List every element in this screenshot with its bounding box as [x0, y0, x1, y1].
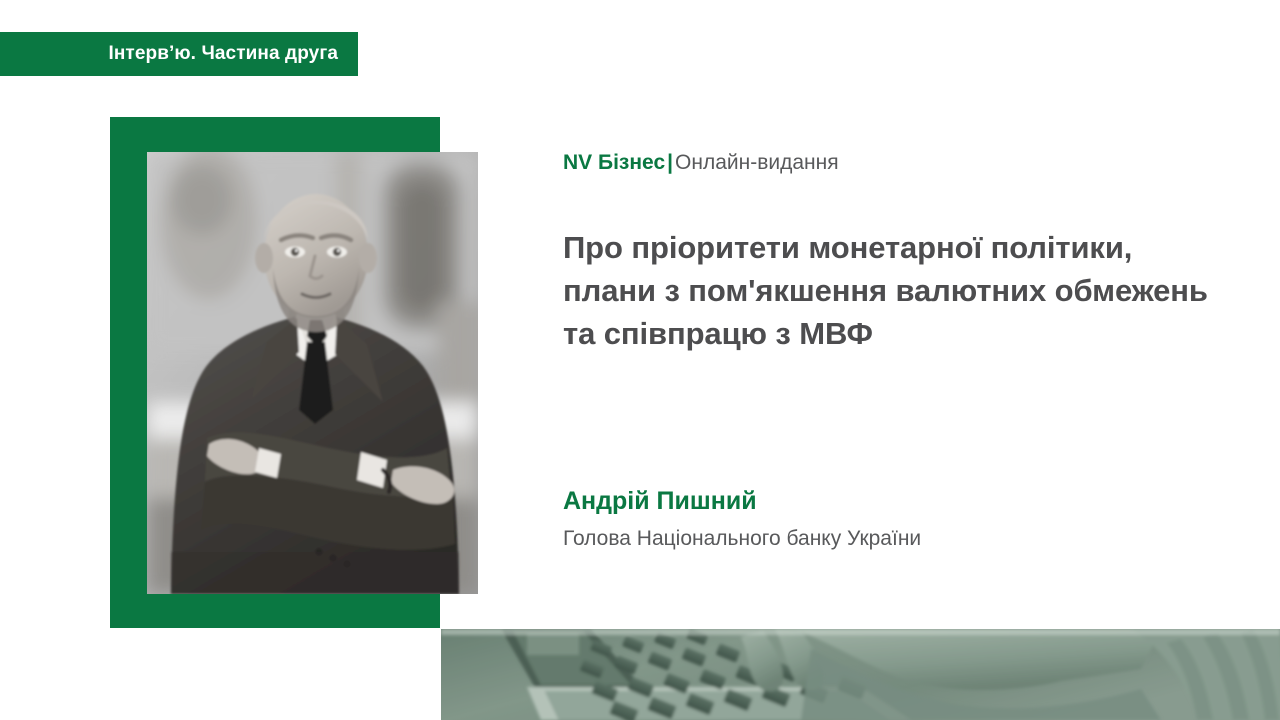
speaker-role: Голова Національного банку України — [563, 524, 1223, 554]
kicker-separator: | — [665, 151, 675, 174]
content-column: NV Бізнес|Онлайн-видання Про пріоритети … — [563, 148, 1223, 554]
kicker-brand: NV Бізнес — [563, 151, 665, 174]
bottom-decorative-image — [441, 629, 1280, 720]
top-banner: Інтерв’ю. Частина друга — [0, 32, 358, 76]
top-banner-label: Інтерв’ю. Частина друга — [108, 43, 338, 65]
speaker-name: Андрій Пишний — [563, 485, 1223, 518]
slide-root: Інтерв’ю. Частина друга — [0, 0, 1280, 720]
kicker-line: NV Бізнес|Онлайн-видання — [563, 148, 1223, 178]
speaker-block: Андрій Пишний Голова Національного банку… — [563, 485, 1223, 554]
portrait-photo — [147, 152, 478, 594]
headline: Про пріоритети монетарної політики, план… — [563, 226, 1208, 355]
kicker-publication: Онлайн-видання — [675, 151, 839, 174]
